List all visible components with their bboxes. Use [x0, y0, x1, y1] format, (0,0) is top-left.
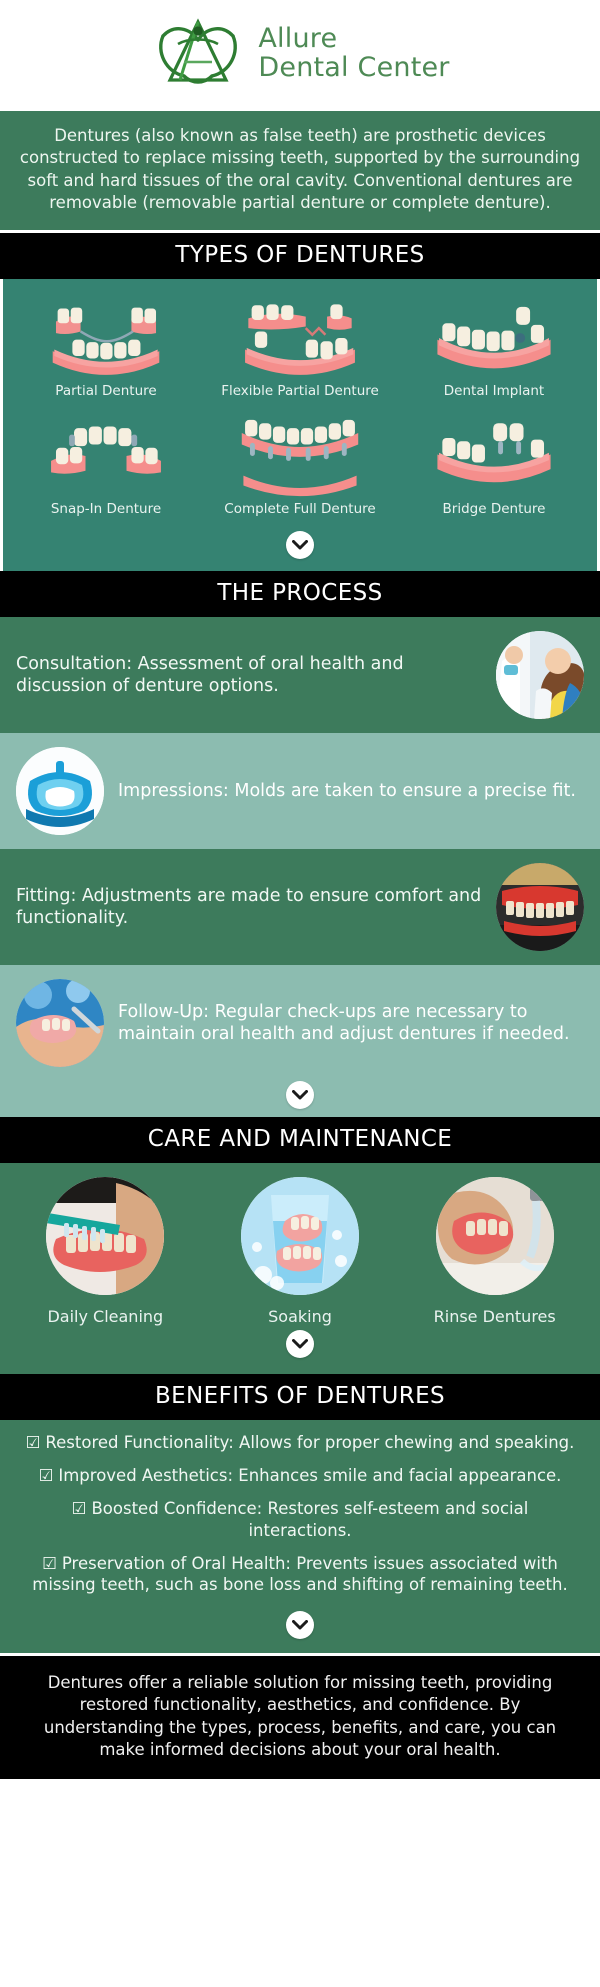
flexible-partial-denture-art-icon — [205, 297, 395, 379]
chevron-down-icon[interactable] — [286, 1611, 314, 1639]
benefit-text: Preservation of Oral Health: Prevents is… — [32, 1554, 567, 1595]
partial-denture-art-icon — [11, 297, 201, 379]
infographic-page: Allure Dental Center Dentures (also know… — [0, 0, 600, 1779]
check-icon: ☑ — [26, 1433, 41, 1452]
chevron-down-icon[interactable] — [286, 531, 314, 559]
type-card-complete-full-denture: Complete Full Denture — [203, 409, 397, 527]
process-step-impressions: Impressions: Molds are taken to ensure a… — [0, 733, 600, 849]
type-label: Partial Denture — [11, 383, 201, 399]
allure-dental-logo-icon — [150, 14, 246, 92]
brushing-dentures-photo — [46, 1177, 164, 1295]
care-card-daily-cleaning: Daily Cleaning — [8, 1177, 203, 1326]
process-step-fitting: Fitting: Adjustments are made to ensure … — [0, 849, 600, 965]
section-title-care: CARE AND MAINTENANCE — [0, 1117, 600, 1163]
chevron-down-icon[interactable] — [286, 1081, 314, 1109]
denture-adjustment-photo — [16, 979, 104, 1067]
care-label: Soaking — [203, 1307, 398, 1326]
check-icon: ☑ — [72, 1499, 87, 1518]
care-grid: Daily Cleaning — [0, 1163, 600, 1374]
benefit-text: Restored Functionality: Allows for prope… — [45, 1433, 574, 1452]
type-label: Bridge Denture — [399, 501, 589, 517]
complete-full-denture-art-icon — [205, 415, 395, 497]
check-icon: ☑ — [39, 1466, 54, 1485]
benefits-list: ☑Restored Functionality: Allows for prop… — [0, 1420, 600, 1653]
type-card-dental-implant: Dental Implant — [397, 291, 591, 409]
bridge-denture-art-icon — [399, 415, 589, 497]
brand-name-line1: Allure — [258, 24, 449, 53]
process-step-follow-up: Follow-Up: Regular check-ups are necessa… — [0, 965, 600, 1081]
scroll-down-indicator-process-wrap — [0, 1081, 600, 1117]
section-title-benefits: BENEFITS OF DENTURES — [0, 1374, 600, 1420]
benefit-item: ☑Restored Functionality: Allows for prop… — [18, 1432, 582, 1454]
chevron-down-icon[interactable] — [286, 1330, 314, 1358]
process-step-consultation: Consultation: Assessment of oral health … — [0, 617, 600, 733]
benefit-item: ☑Boosted Confidence: Restores self-estee… — [18, 1498, 582, 1542]
process-step-text: Impressions: Molds are taken to ensure a… — [118, 780, 584, 802]
care-card-rinse-dentures: Rinse Dentures — [397, 1177, 592, 1326]
care-card-soaking: Soaking — [203, 1177, 398, 1326]
section-title-types: TYPES OF DENTURES — [0, 233, 600, 279]
process-steps: Consultation: Assessment of oral health … — [0, 617, 600, 1117]
check-icon: ☑ — [42, 1554, 57, 1573]
type-label: Dental Implant — [399, 383, 589, 399]
dentures-in-glass-photo — [241, 1177, 359, 1295]
brand-wordmark: Allure Dental Center — [258, 24, 449, 82]
type-label: Snap-In Denture — [11, 501, 201, 517]
process-step-text: Fitting: Adjustments are made to ensure … — [16, 885, 482, 930]
benefit-text: Boosted Confidence: Restores self-esteem… — [91, 1499, 528, 1540]
process-step-text: Follow-Up: Regular check-ups are necessa… — [118, 1001, 584, 1046]
types-row-2: Snap-In Denture — [9, 409, 591, 527]
benefit-text: Improved Aesthetics: Enhances smile and … — [58, 1466, 561, 1485]
brand-name-line2: Dental Center — [258, 53, 449, 82]
patient-in-dental-chair-photo — [496, 631, 584, 719]
intro-paragraph: Dentures (also known as false teeth) are… — [0, 108, 600, 233]
rinsing-dentures-photo — [436, 1177, 554, 1295]
types-grid: Partial Denture — [0, 279, 600, 571]
scroll-down-indicator-benefits[interactable] — [18, 1607, 582, 1647]
type-card-snap-in-denture: Snap-In Denture — [9, 409, 203, 527]
dental-implant-art-icon — [399, 297, 589, 379]
type-card-bridge-denture: Bridge Denture — [397, 409, 591, 527]
dental-impression-tray-photo — [16, 747, 104, 835]
benefit-item: ☑Improved Aesthetics: Enhances smile and… — [18, 1465, 582, 1487]
brand-header: Allure Dental Center — [0, 0, 600, 108]
type-card-partial-denture: Partial Denture — [9, 291, 203, 409]
care-label: Daily Cleaning — [8, 1307, 203, 1326]
process-step-text: Consultation: Assessment of oral health … — [16, 653, 482, 698]
denture-fitting-photo — [496, 863, 584, 951]
care-label: Rinse Dentures — [397, 1307, 592, 1326]
benefit-item: ☑Preservation of Oral Health: Prevents i… — [18, 1553, 582, 1597]
scroll-down-indicator-process[interactable] — [16, 1081, 584, 1109]
conclusion-paragraph: Dentures offer a reliable solution for m… — [0, 1653, 600, 1779]
types-row-1: Partial Denture — [9, 291, 591, 409]
type-card-flexible-partial-denture: Flexible Partial Denture — [203, 291, 397, 409]
type-label: Complete Full Denture — [205, 501, 395, 517]
scroll-down-indicator-care[interactable] — [8, 1326, 592, 1366]
type-label: Flexible Partial Denture — [205, 383, 395, 399]
snap-in-denture-art-icon — [11, 415, 201, 497]
care-row: Daily Cleaning — [8, 1177, 592, 1326]
scroll-down-indicator-types[interactable] — [9, 527, 591, 567]
section-title-process: THE PROCESS — [0, 571, 600, 617]
